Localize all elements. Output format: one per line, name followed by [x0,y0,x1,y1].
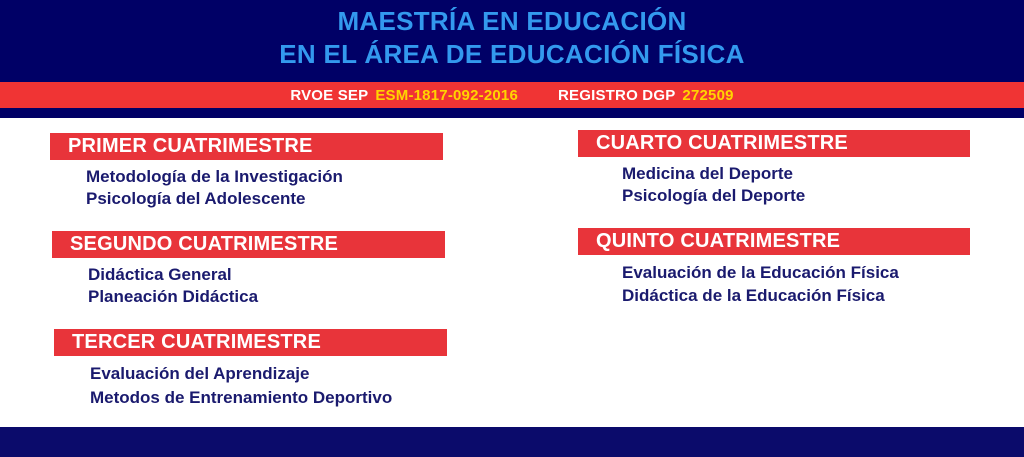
course-item: Medicina del Deporte [622,163,970,185]
term-title-tercer: TERCER CUATRIMESTRE [54,331,321,354]
program-title-line-2: EN EL ÁREA DE EDUCACIÓN FÍSICA [0,35,1024,68]
course-list-primer: Metodología de la Investigación Psicolog… [50,160,443,211]
course-item: Didáctica de la Educación Física [622,284,970,307]
term-block-tercer: TERCER CUATRIMESTRE Evaluación del Apren… [54,329,447,410]
program-title-line-1: MAESTRÍA EN EDUCACIÓN [0,4,1024,35]
registro-dgp-value: 272509 [682,87,733,104]
term-title-primer: PRIMER CUATRIMESTRE [50,135,313,158]
course-list-cuarto: Medicina del Deporte Psicología del Depo… [578,157,970,208]
rvoe-label: RVOE SEP [290,87,368,104]
program-curriculum-poster: MAESTRÍA EN EDUCACIÓN EN EL ÁREA DE EDUC… [0,0,1024,457]
course-item: Psicología del Deporte [622,185,970,207]
term-title-quinto: QUINTO CUATRIMESTRE [578,230,840,253]
course-item: Evaluación de la Educación Física [622,261,970,284]
poster-header: MAESTRÍA EN EDUCACIÓN EN EL ÁREA DE EDUC… [0,0,1024,118]
rvoe-value: ESM-1817-092-2016 [375,87,518,104]
course-list-quinto: Evaluación de la Educación Física Didáct… [578,255,970,308]
course-item: Planeación Didáctica [88,286,445,308]
term-header-quinto: QUINTO CUATRIMESTRE [578,228,970,255]
term-block-cuarto: CUARTO CUATRIMESTRE Medicina del Deporte… [578,130,970,208]
term-block-primer: PRIMER CUATRIMESTRE Metodología de la In… [50,133,443,211]
term-title-cuarto: CUARTO CUATRIMESTRE [578,132,848,155]
course-list-tercer: Evaluación del Aprendizaje Metodos de En… [54,356,447,410]
course-item: Evaluación del Aprendizaje [90,362,447,386]
term-header-tercer: TERCER CUATRIMESTRE [54,329,447,356]
term-block-quinto: QUINTO CUATRIMESTRE Evaluación de la Edu… [578,228,970,308]
term-title-segundo: SEGUNDO CUATRIMESTRE [52,233,338,256]
course-item: Didáctica General [88,264,445,286]
registro-dgp-label: REGISTRO DGP [558,87,675,104]
term-block-segundo: SEGUNDO CUATRIMESTRE Didáctica General P… [52,231,445,309]
curriculum-content: PRIMER CUATRIMESTRE Metodología de la In… [0,118,1024,427]
term-header-cuarto: CUARTO CUATRIMESTRE [578,130,970,157]
accreditation-bar: RVOE SEP ESM-1817-092-2016 REGISTRO DGP … [0,82,1024,108]
course-list-segundo: Didáctica General Planeación Didáctica [52,258,445,309]
program-title: MAESTRÍA EN EDUCACIÓN EN EL ÁREA DE EDUC… [0,4,1024,67]
term-header-segundo: SEGUNDO CUATRIMESTRE [52,231,445,258]
accreditation-content: RVOE SEP ESM-1817-092-2016 REGISTRO DGP … [290,87,733,104]
course-item: Psicología del Adolescente [86,188,443,210]
course-item: Metodología de la Investigación [86,166,443,188]
course-item: Metodos de Entrenamiento Deportivo [90,386,447,410]
footer-band [0,427,1024,457]
term-header-primer: PRIMER CUATRIMESTRE [50,133,443,160]
